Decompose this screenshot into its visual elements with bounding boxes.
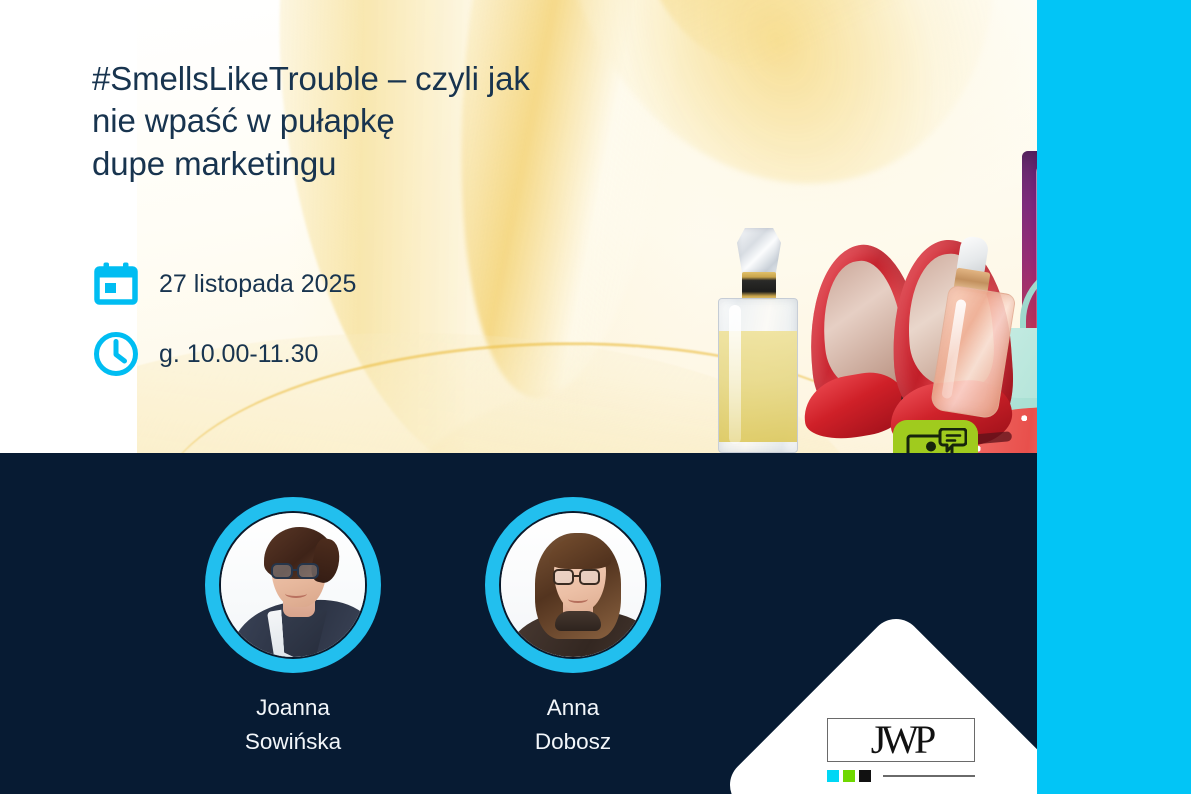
portrait-smile: [285, 589, 307, 598]
portrait-glasses-bridge: [574, 575, 580, 577]
logo-square-cyan: [827, 770, 839, 782]
rose-gold-dropper-bottle: [937, 237, 1011, 417]
headline-block: #SmellsLikeTrouble – czyli jak nie wpaść…: [92, 58, 632, 185]
speaker-list: Joanna Sowińska: [196, 497, 670, 759]
portrait-glasses-bridge: [292, 569, 299, 571]
hero-section: online #SmellsLikeTrouble – czyli jak ni…: [0, 0, 1037, 453]
jwp-logo-frame: JWP: [827, 718, 975, 762]
right-cyan-rail: [1037, 0, 1191, 794]
clear-perfume-bottle: [712, 228, 804, 453]
calendar-icon: [92, 260, 140, 308]
clock-icon: [92, 330, 140, 378]
webinar-poster: online #SmellsLikeTrouble – czyli jak ni…: [0, 0, 1191, 794]
portrait-anna-dobosz: [499, 511, 647, 659]
portrait-joanna-sowinska: [219, 511, 367, 659]
speaker-card: Joanna Sowińska: [196, 497, 390, 759]
event-time-text: g. 10.00-11.30: [159, 340, 318, 369]
jwp-logo: JWP: [827, 718, 975, 782]
event-date-row: 27 listopada 2025: [92, 256, 356, 312]
event-time-row: g. 10.00-11.30: [92, 326, 356, 382]
avatar-ring: [485, 497, 661, 673]
event-meta: 27 listopada 2025 g. 10.00-11.30: [92, 256, 356, 396]
dropper-body: [930, 284, 1017, 419]
speakers-section: Joanna Sowińska: [0, 453, 1037, 794]
portrait-collar: [555, 611, 601, 631]
jwp-logo-underline-row: [827, 770, 975, 782]
perfume-glass-body: [718, 298, 798, 453]
perfume-neck-collar: [742, 272, 776, 300]
speaker-name: Anna Dobosz: [476, 691, 670, 759]
portrait-glasses-right: [297, 563, 319, 579]
logo-square-green: [843, 770, 855, 782]
speaker-card: Anna Dobosz: [476, 497, 670, 759]
speaker-name: Joanna Sowińska: [196, 691, 390, 759]
online-webinar-icon: [905, 428, 967, 453]
avatar-ring: [205, 497, 381, 673]
perfume-highlight: [729, 305, 741, 444]
portrait-glasses-right: [579, 569, 600, 585]
online-badge: online: [893, 420, 978, 453]
jwp-logo-mark: JWP: [828, 720, 974, 760]
page-title: #SmellsLikeTrouble – czyli jak nie wpaść…: [92, 58, 632, 185]
portrait-smile: [568, 595, 588, 603]
portrait-glasses-left: [271, 563, 293, 579]
logo-rule: [883, 775, 975, 777]
logo-square-black: [859, 770, 871, 782]
perfume-crystal-cap: [737, 228, 781, 274]
portrait-glasses-left: [553, 569, 574, 585]
event-date-text: 27 listopada 2025: [159, 270, 356, 299]
